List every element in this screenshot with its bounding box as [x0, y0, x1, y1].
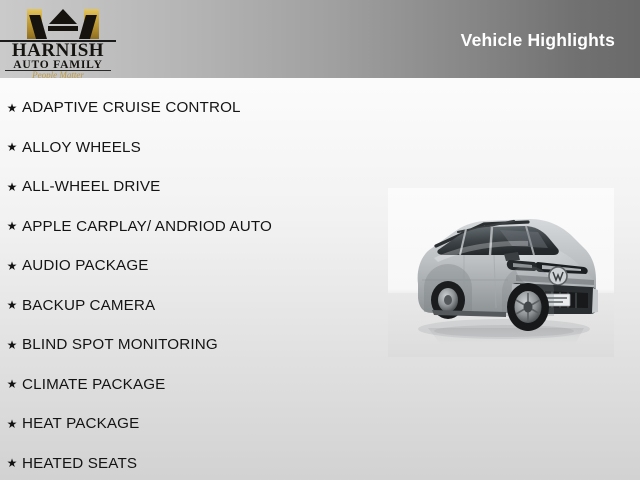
feature-item: ★ALLOY WHEELS — [0, 128, 380, 168]
star-icon: ★ — [0, 378, 22, 390]
feature-item: ★HEAT PACKAGE — [0, 404, 380, 444]
star-icon: ★ — [0, 260, 22, 272]
star-icon: ★ — [0, 102, 22, 114]
vehicle-illustration — [388, 188, 614, 357]
star-icon: ★ — [0, 220, 22, 232]
star-icon: ★ — [0, 181, 22, 193]
dealer-logo: HARNISH AUTO FAMILY People Matter — [0, 4, 130, 76]
star-icon: ★ — [0, 141, 22, 153]
emblem-arch — [34, 9, 92, 39]
vehicle-highlights-page: HARNISH AUTO FAMILY People Matter Vehicl… — [0, 0, 640, 480]
feature-label: APPLE CARPLAY/ ANDRIOD AUTO — [22, 218, 272, 235]
feature-label: ALL-WHEEL DRIVE — [22, 178, 160, 195]
feature-label: ALLOY WHEELS — [22, 139, 141, 156]
emblem-crossbar — [48, 26, 78, 31]
feature-label: ADAPTIVE CRUISE CONTROL — [22, 99, 241, 116]
harnish-arch-emblem — [27, 9, 99, 39]
feature-label: BACKUP CAMERA — [22, 297, 155, 314]
star-icon: ★ — [0, 339, 22, 351]
feature-item: ★BACKUP CAMERA — [0, 286, 380, 326]
star-icon: ★ — [0, 418, 22, 430]
feature-item: ★APPLE CARPLAY/ ANDRIOD AUTO — [0, 207, 380, 247]
feature-item: ★BLIND SPOT MONITORING — [0, 325, 380, 365]
feature-label: CLIMATE PACKAGE — [22, 376, 165, 393]
feature-item: ★CLIMATE PACKAGE — [0, 365, 380, 405]
vehicle-highlights-list: ★ADAPTIVE CRUISE CONTROL★ALLOY WHEELS★AL… — [0, 88, 380, 480]
logo-name: HARNISH — [0, 41, 116, 60]
star-icon: ★ — [0, 299, 22, 311]
page-header: HARNISH AUTO FAMILY People Matter Vehicl… — [0, 0, 640, 78]
star-icon: ★ — [0, 457, 22, 469]
logo-tagline: People Matter — [0, 70, 116, 78]
vehicle-photo — [388, 188, 614, 357]
feature-label: AUDIO PACKAGE — [22, 257, 149, 274]
feature-item: ★ADAPTIVE CRUISE CONTROL — [0, 88, 380, 128]
page-title: Vehicle Highlights — [461, 30, 615, 51]
feature-item: ★ALL-WHEEL DRIVE — [0, 167, 380, 207]
feature-label: BLIND SPOT MONITORING — [22, 336, 218, 353]
feature-label: HEAT PACKAGE — [22, 415, 139, 432]
emblem-apex — [49, 9, 77, 24]
feature-item: ★AUDIO PACKAGE — [0, 246, 380, 286]
feature-label: HEATED SEATS — [22, 455, 137, 472]
feature-item: ★HEATED SEATS — [0, 444, 380, 480]
